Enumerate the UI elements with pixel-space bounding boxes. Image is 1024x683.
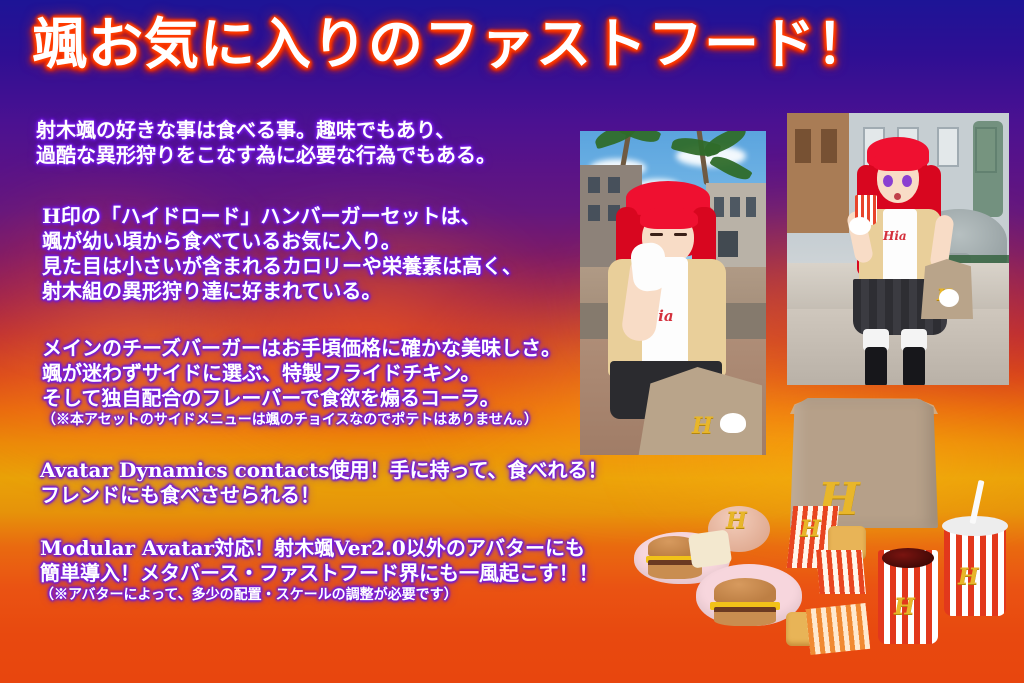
- paragraph-intro: 射木颯の好きな事は食べる事。趣味でもあり、 過酷な異形狩りをこなす為に必要な行為…: [36, 118, 496, 168]
- food-set-render: H H H H: [600, 398, 1024, 683]
- avatar-eye-left: [883, 175, 893, 187]
- menu-line-3: そして独自配合のフレーバーで食欲を煽るコーラ。: [42, 386, 561, 411]
- avatar-shirt: [883, 209, 917, 287]
- sock-left: [865, 347, 887, 385]
- fried-chicken-box-2: [806, 603, 870, 655]
- menu-line-2: 颯が迷わずサイドに選ぶ、特製フライドチキン。: [42, 361, 561, 386]
- avatar-mouth: [894, 193, 901, 200]
- avatar-eye-right: [902, 175, 912, 187]
- paragraph-modular-avatar: Modular Avatar対応！射木颯Ver2.0以外のアバターにも 簡単導入…: [40, 536, 599, 605]
- ivy-shape: [973, 121, 1003, 217]
- avatar-bangs: [640, 207, 698, 229]
- sock-right: [903, 347, 925, 385]
- cup-h-logo: H: [894, 594, 915, 620]
- avatar-bangs: [873, 151, 923, 171]
- poster-canvas: 颯お気に入りのファストフード！ 射木颯の好きな事は食べる事。趣味でもあり、 過酷…: [0, 0, 1024, 683]
- intro-line-1: 射木颯の好きな事は食べる事。趣味でもあり、: [36, 118, 496, 143]
- cup-h-logo: H: [958, 564, 979, 590]
- window-shape: [937, 127, 959, 167]
- dynamics-line-2: フレンドにも食べさせられる！: [40, 483, 608, 508]
- shirt-script-text: Hia: [883, 229, 907, 243]
- window-shape: [821, 129, 837, 163]
- screenshot-avatar-with-drink: Hia H: [787, 113, 1009, 385]
- intro-line-2: 過酷な異形狩りをこなす為に必要な行為でもある。: [36, 143, 496, 168]
- dynamics-line-1: Avatar Dynamics contacts使用！手に持って、食べれる！: [40, 458, 608, 483]
- burger-line-3: 見た目は小さいが含まれるカロリーや栄養素は高く、: [42, 254, 522, 279]
- avatar-eye-closed-right: [674, 233, 687, 236]
- window-shape: [730, 197, 740, 217]
- paragraph-burger: H印の「ハイドロード」ハンバーガーセットは、 颯が幼い頃から食べているお気に入り…: [42, 204, 522, 304]
- window-shape: [588, 177, 600, 193]
- window-shape: [588, 205, 600, 221]
- avatar-eye-closed-left: [650, 233, 663, 236]
- modular-line-2: 簡単導入！メタバース・ファストフード界にも一風起こす！！: [40, 561, 599, 586]
- menu-note: （※本アセットのサイドメニューは颯のチョイスなのでポテトはありません。）: [42, 411, 561, 430]
- paragraph-avatar-dynamics: Avatar Dynamics contacts使用！手に持って、食べれる！ フ…: [40, 458, 608, 508]
- burger-line-2: 颯が幼い頃から食べているお気に入り。: [42, 229, 522, 254]
- menu-line-1: メインのチーズバーガーはお手頃価格に確かな美味しさ。: [42, 336, 561, 361]
- window-shape: [718, 231, 738, 257]
- poster-title: 颯お気に入りのファストフード！: [32, 16, 932, 71]
- paragraph-menu: メインのチーズバーガーはお手頃価格に確かな美味しさ。 颯が迷わずサイドに選ぶ、特…: [42, 336, 561, 430]
- burger-line-1: H印の「ハイドロード」ハンバーガーセットは、: [42, 204, 522, 229]
- modular-line-1: Modular Avatar対応！射木颯Ver2.0以外のアバターにも: [40, 536, 599, 561]
- cola-liquid: [882, 548, 934, 568]
- burger-cheese-slab: [688, 529, 732, 568]
- avatar-hand-left: [849, 217, 871, 235]
- fried-chicken-box-1-front: [816, 550, 866, 594]
- window-shape: [608, 177, 620, 193]
- burger-bun-top: [714, 578, 776, 604]
- burger-bun-bottom: [714, 612, 776, 626]
- avatar-hand-right: [939, 289, 959, 307]
- avatar-hand-holding-food: [630, 241, 669, 292]
- modular-note: （※アバターによって、多少の配置・スケールの調整が必要です）: [40, 586, 599, 605]
- window-shape: [746, 197, 756, 217]
- burger-line-4: 射木組の異形狩り達に好まれている。: [42, 279, 522, 304]
- chicken-box-h-logo: H: [800, 516, 821, 542]
- window-shape: [795, 129, 811, 163]
